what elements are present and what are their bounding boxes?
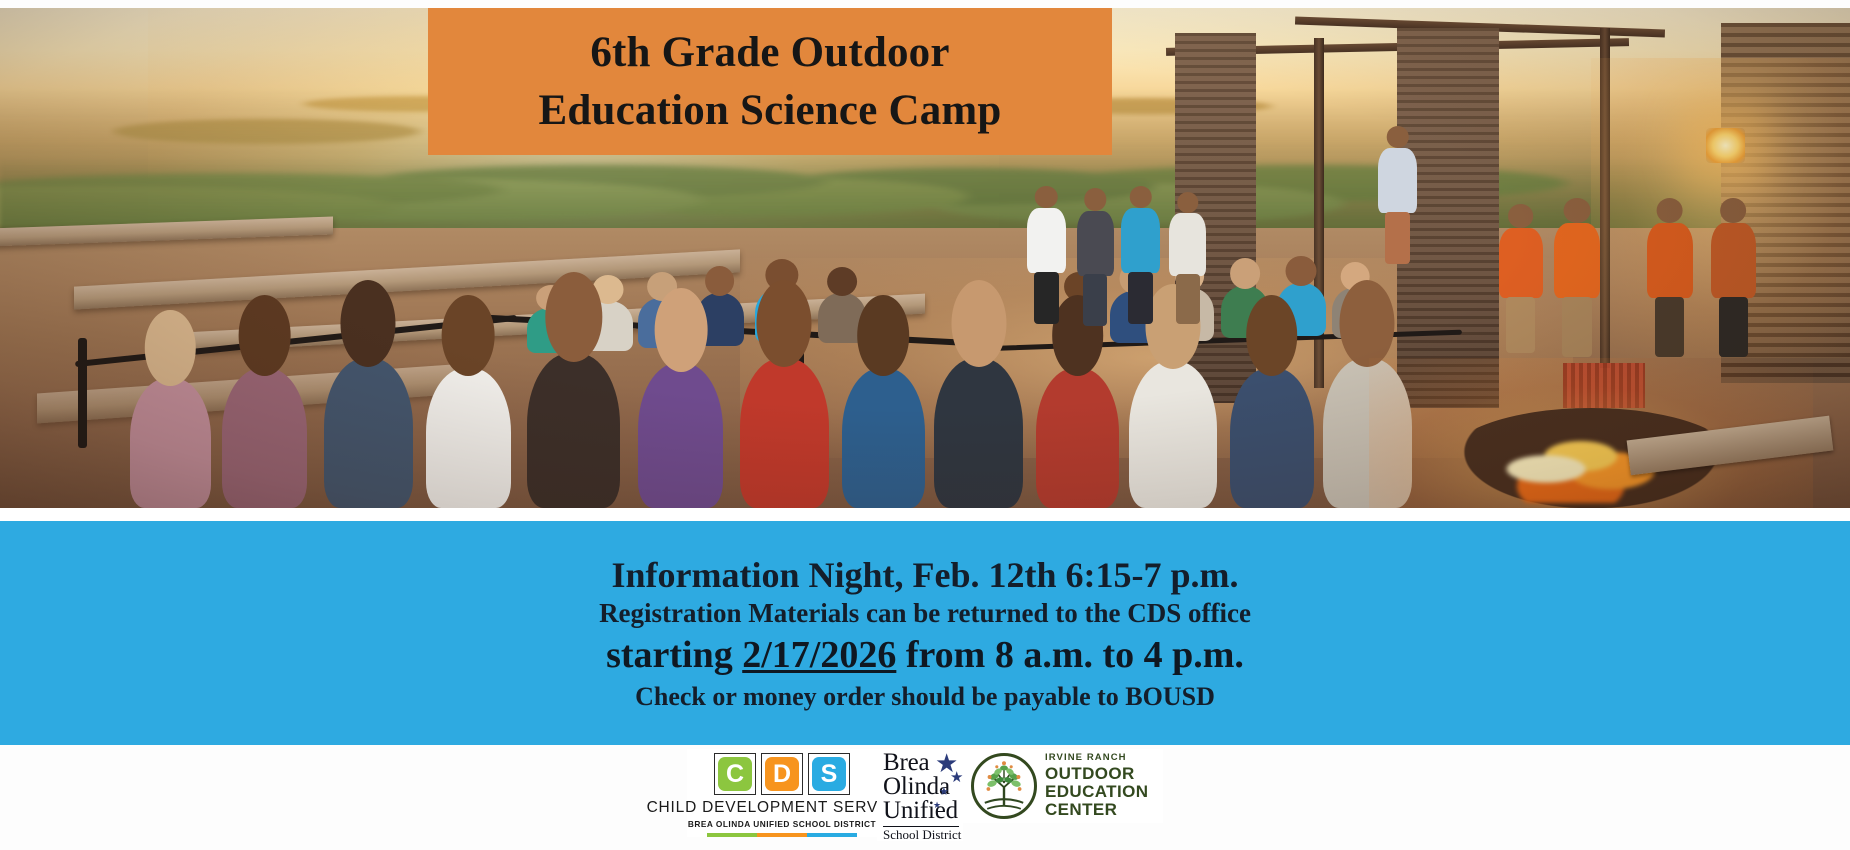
start-date: 2/17/2026 bbox=[742, 634, 896, 676]
star-icon: ★ bbox=[950, 771, 963, 786]
cds-logo: C D S CHILD DEVELOPMENT SERVICES BREA OL… bbox=[687, 749, 877, 837]
payment-line: Check or money order should be payable t… bbox=[635, 682, 1215, 712]
iroec-eyebrow: IRVINE RANCH bbox=[1045, 753, 1148, 763]
staff-member-orange-shirt bbox=[1647, 223, 1693, 298]
tree-icon bbox=[971, 753, 1037, 819]
irvine-ranch-oec-logo: IRVINE RANCH OUTDOOR EDUCATION CENTER bbox=[963, 749, 1163, 823]
cds-bar-blue bbox=[807, 833, 857, 837]
staff-member bbox=[1711, 223, 1755, 298]
cds-square-d: D bbox=[761, 753, 803, 795]
iroec-line-2: EDUCATION bbox=[1045, 783, 1148, 801]
cds-letter-s: S bbox=[812, 757, 846, 791]
lantern-icon bbox=[1706, 128, 1745, 163]
bou-line-1: Brea bbox=[883, 751, 929, 775]
seated-student bbox=[527, 353, 620, 508]
cds-square-c: C bbox=[714, 753, 756, 795]
stone-pillar bbox=[1397, 28, 1499, 408]
seated-student bbox=[934, 358, 1023, 508]
bou-stars: ★ ★ ★ ★ bbox=[933, 751, 967, 809]
cds-bar-green bbox=[707, 833, 757, 837]
seated-student bbox=[1129, 361, 1218, 509]
staff-member-orange-shirt bbox=[1554, 223, 1600, 298]
standing-student bbox=[1169, 213, 1206, 276]
brea-olinda-unified-logo: Brea Olinda Unified School District ★ ★ … bbox=[877, 749, 963, 841]
title-line-2: Education Science Camp bbox=[538, 82, 1001, 139]
cds-square-s: S bbox=[808, 753, 850, 795]
cds-color-bar bbox=[707, 833, 857, 837]
starting-date-line: starting 2/17/2026 from 8 a.m. to 4 p.m. bbox=[606, 634, 1244, 677]
staff-member-orange-shirt bbox=[1499, 228, 1543, 298]
standing-student bbox=[1027, 208, 1066, 273]
logo-strip: C D S CHILD DEVELOPMENT SERVICES BREA OL… bbox=[0, 745, 1850, 850]
starting-suffix: from 8 a.m. to 4 p.m. bbox=[896, 634, 1244, 676]
registration-materials-line: Registration Materials can be returned t… bbox=[599, 598, 1251, 629]
cds-letter-c: C bbox=[718, 757, 752, 791]
iroec-line-3: CENTER bbox=[1045, 801, 1148, 819]
info-band: Information Night, Feb. 12th 6:15-7 p.m.… bbox=[0, 521, 1850, 745]
starting-prefix: starting bbox=[606, 634, 742, 676]
cds-letter-d: D bbox=[765, 757, 799, 791]
seated-student bbox=[842, 368, 925, 508]
seated-student bbox=[1036, 368, 1119, 508]
cds-subtitle: BREA OLINDA UNIFIED SCHOOL DISTRICT bbox=[688, 819, 876, 829]
seated-student bbox=[222, 368, 307, 508]
seated-student bbox=[426, 368, 511, 508]
handrail-post bbox=[78, 338, 87, 448]
top-white-gutter bbox=[0, 0, 1850, 8]
standing-student bbox=[1121, 208, 1160, 273]
bou-subtitle: School District bbox=[883, 828, 961, 841]
seated-student bbox=[740, 358, 829, 508]
standing-student bbox=[1077, 211, 1114, 276]
staff-member bbox=[1378, 148, 1417, 213]
seated-student bbox=[1230, 368, 1313, 508]
seated-student bbox=[324, 358, 413, 508]
title-line-1: 6th Grade Outdoor bbox=[590, 24, 949, 81]
cds-bar-orange bbox=[757, 833, 807, 837]
title-banner: 6th Grade Outdoor Education Science Camp bbox=[428, 8, 1112, 155]
seated-student bbox=[130, 378, 211, 508]
flyer-page: 6th Grade Outdoor Education Science Camp… bbox=[0, 0, 1850, 850]
star-icon: ★ bbox=[939, 787, 949, 798]
photo-band-divider bbox=[0, 508, 1850, 521]
cds-letter-squares: C D S bbox=[714, 753, 850, 795]
iroec-line-1: OUTDOOR bbox=[1045, 765, 1148, 783]
seated-student bbox=[638, 363, 723, 508]
irvine-ranch-oec-text: IRVINE RANCH OUTDOOR EDUCATION CENTER bbox=[1045, 753, 1148, 819]
information-night-line: Information Night, Feb. 12th 6:15-7 p.m. bbox=[612, 555, 1239, 595]
star-icon: ★ bbox=[933, 801, 941, 810]
